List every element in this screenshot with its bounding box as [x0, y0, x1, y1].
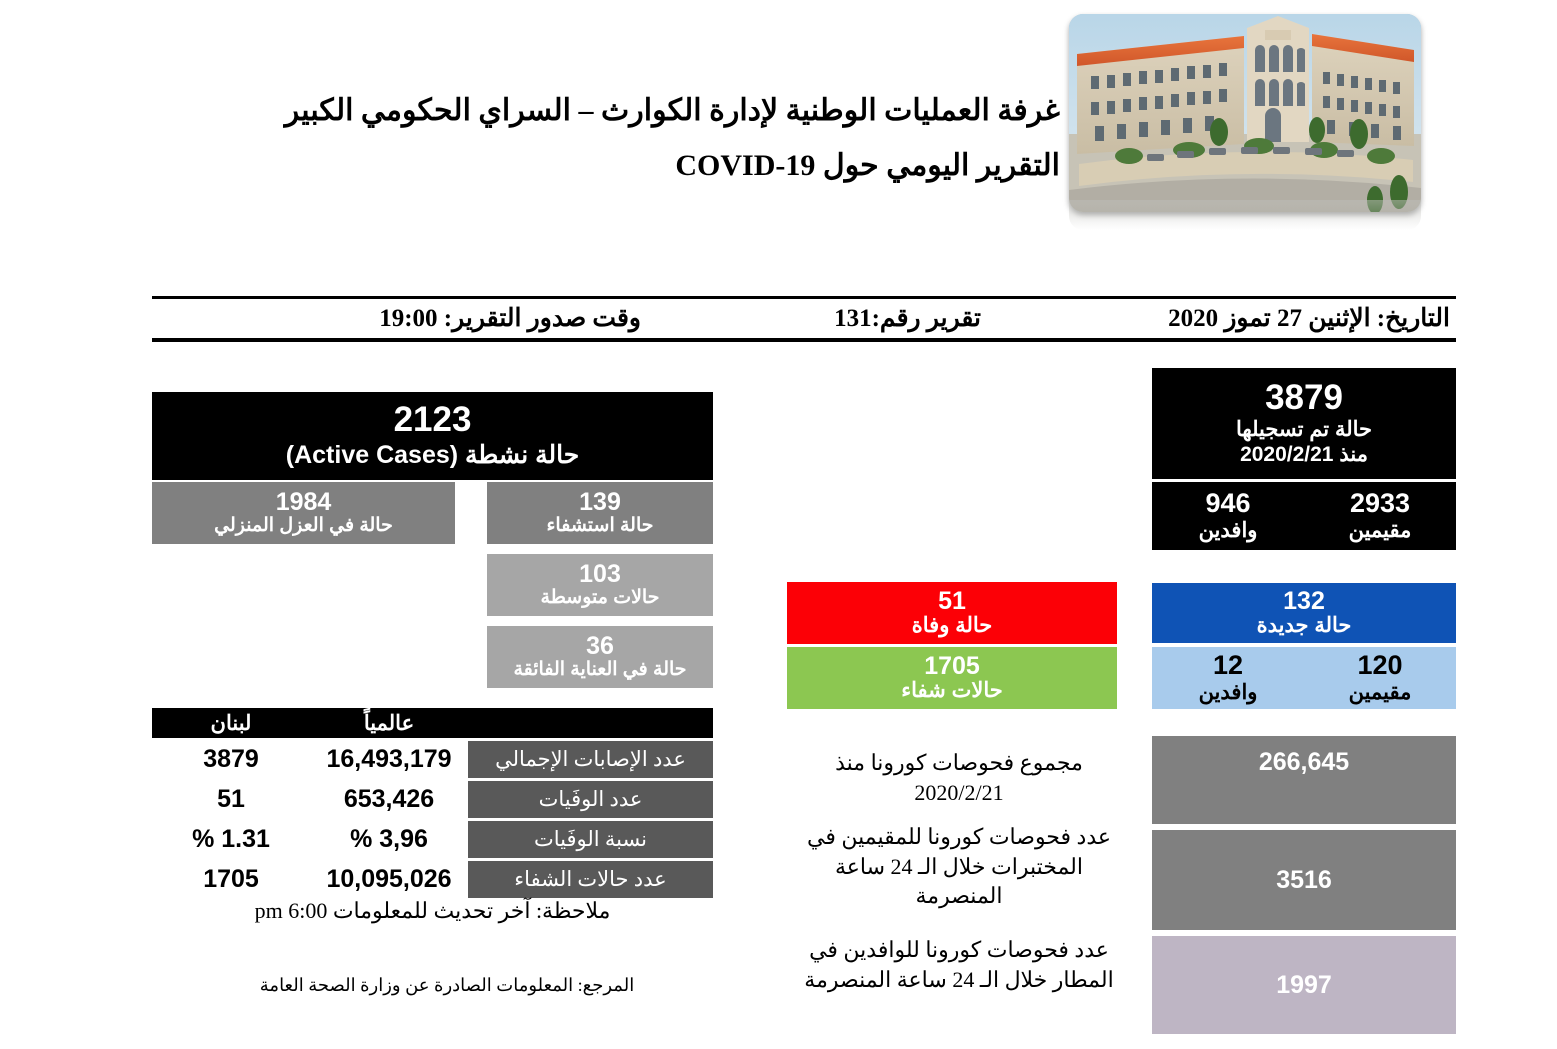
home-isolation-value: 1984: [276, 489, 332, 515]
total-registered-label-2: منذ 2020/2/21: [1240, 442, 1368, 467]
home-isolation-label: حالة في العزل المنزلي: [214, 515, 393, 537]
row-global-value: 3,96 %: [310, 821, 468, 858]
total-arrivals-label: وافدين: [1199, 518, 1258, 543]
deaths-value: 51: [938, 588, 966, 614]
new-residents-value: 120: [1357, 651, 1402, 679]
hospitalized-box: 139 حالة استشفاء: [487, 482, 713, 544]
page-title-line-1: غرفة العمليات الوطنية لإدارة الكوارث – ا…: [285, 94, 1060, 127]
row-lebanon-value: 3879: [152, 741, 310, 778]
total-registered-label-1: حالة تم تسجيلها: [1236, 418, 1372, 442]
table-header-global: عالمياً: [310, 711, 468, 736]
table-header-lebanon: لبنان: [152, 711, 310, 736]
icu-cases-value: 36: [586, 633, 614, 659]
home-isolation-box: 1984 حالة في العزل المنزلي: [152, 482, 455, 544]
recovered-value: 1705: [924, 653, 980, 679]
moderate-cases-value: 103: [579, 561, 621, 587]
total-arrivals-cell: 946 وافدين: [1152, 482, 1304, 550]
global-lebanon-comparison-table: عالمياً لبنان عدد الإصابات الإجمالي 16,4…: [152, 708, 713, 898]
report-issue-time: وقت صدور التقرير: 19:00: [379, 303, 641, 333]
tests-arrivals-value: 1997: [1152, 936, 1456, 1034]
icu-cases-label: حالة في العناية الفائقة: [513, 659, 686, 681]
hospitalized-label: حالة استشفاء: [547, 515, 654, 537]
total-arrivals-value: 946: [1205, 489, 1250, 517]
active-cases-box: 2123 حالة نشطة (Active Cases): [152, 392, 713, 480]
tests-residents-label: عدد فحوصات كورونا للمقيمين في المختبرات …: [800, 822, 1118, 911]
recovered-box: 1705 حالات شفاء: [787, 647, 1117, 709]
new-arrivals-value: 12: [1213, 651, 1243, 679]
new-cases-split-box: 120 مقيمين 12 وافدين: [1152, 647, 1456, 709]
page-title: غرفة العمليات الوطنية لإدارة الكوارث – ا…: [180, 88, 1060, 189]
report-date: التاريخ: الإثنين 27 تموز 2020: [1168, 303, 1450, 333]
new-cases-box: 132 حالة جديدة: [1152, 583, 1456, 643]
photo-reflection: [1069, 200, 1421, 230]
tests-total-label: مجموع فحوصات كورونا منذ 2020/2/21: [800, 748, 1118, 807]
deaths-box: 51 حالة وفاة: [787, 582, 1117, 644]
total-registered-box: 3879 حالة تم تسجيلها منذ 2020/2/21: [1152, 368, 1456, 479]
row-global-value: 16,493,179: [310, 741, 468, 778]
table-row: عدد الوفَيات 653,426 51: [152, 781, 713, 818]
tests-arrivals-label: عدد فحوصات كورونا للوافدين في المطار خلا…: [800, 935, 1118, 994]
row-label: عدد الوفَيات: [468, 781, 713, 818]
grand-serail-illustration: [1069, 14, 1421, 212]
report-date-bar: التاريخ: الإثنين 27 تموز 2020 تقرير رقم:…: [152, 296, 1456, 342]
row-lebanon-value: 1705: [152, 861, 310, 898]
report-number: تقرير رقم:131: [834, 303, 981, 333]
page-title-line-2: التقرير اليومي حول COVID-19: [180, 143, 1060, 190]
tests-total-value: 266,645: [1152, 736, 1456, 824]
row-label: عدد حالات الشفاء: [468, 861, 713, 898]
new-cases-label: حالة جديدة: [1257, 614, 1352, 638]
row-lebanon-value: 1.31 %: [152, 821, 310, 858]
moderate-cases-label: حالات متوسطة: [541, 587, 660, 609]
table-row: عدد الإصابات الإجمالي 16,493,179 3879: [152, 741, 713, 778]
table-header-row: عالمياً لبنان: [152, 708, 713, 738]
active-cases-label: حالة نشطة (Active Cases): [286, 441, 579, 470]
total-residents-label: مقيمين: [1349, 518, 1412, 543]
new-residents-cell: 120 مقيمين: [1304, 647, 1456, 709]
new-cases-value: 132: [1283, 588, 1325, 614]
row-label: نسبة الوفَيات: [468, 821, 713, 858]
total-split-box: 2933 مقيمين 946 وافدين: [1152, 482, 1456, 550]
total-residents-cell: 2933 مقيمين: [1304, 482, 1456, 550]
hospitalized-value: 139: [579, 489, 621, 515]
table-row: عدد حالات الشفاء 10,095,026 1705: [152, 861, 713, 898]
report-page: غرفة العمليات الوطنية لإدارة الكوارث – ا…: [0, 0, 1557, 1049]
row-global-value: 653,426: [310, 781, 468, 818]
active-cases-value: 2123: [394, 402, 472, 439]
total-registered-value: 3879: [1265, 380, 1343, 417]
table-row: نسبة الوفَيات 3,96 % 1.31 %: [152, 821, 713, 858]
tests-residents-value: 3516: [1152, 830, 1456, 930]
recovered-label: حالات شفاء: [901, 679, 1002, 703]
grand-serail-photo: [1069, 14, 1421, 212]
new-arrivals-cell: 12 وافدين: [1152, 647, 1304, 709]
row-label: عدد الإصابات الإجمالي: [468, 741, 713, 778]
icu-cases-box: 36 حالة في العناية الفائقة: [487, 626, 713, 688]
new-residents-label: مقيمين: [1349, 680, 1412, 705]
total-residents-value: 2933: [1350, 489, 1410, 517]
row-lebanon-value: 51: [152, 781, 310, 818]
row-global-value: 10,095,026: [310, 861, 468, 898]
last-update-note: ملاحظة: آخر تحديث للمعلومات 6:00 pm: [152, 898, 713, 924]
moderate-cases-box: 103 حالات متوسطة: [487, 554, 713, 616]
deaths-label: حالة وفاة: [912, 614, 992, 638]
new-arrivals-label: وافدين: [1199, 680, 1258, 705]
source-reference: المرجع: المعلومات الصادرة عن وزارة الصحة…: [152, 975, 742, 996]
